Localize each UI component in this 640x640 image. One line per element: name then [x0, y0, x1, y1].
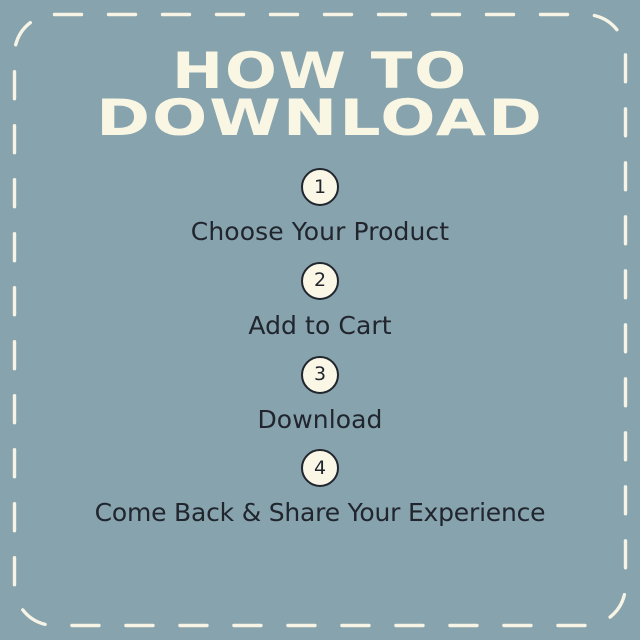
- steps-list: 1 Choose Your Product 2 Add to Cart 3 Do…: [0, 168, 640, 543]
- step-label: Choose Your Product: [0, 218, 640, 247]
- title-line-1: HOW TO: [0, 48, 640, 95]
- list-item: 3 Download: [0, 356, 640, 435]
- step-number: 4: [314, 459, 326, 478]
- step-number-badge: 1: [301, 168, 339, 206]
- list-item: 1 Choose Your Product: [0, 168, 640, 247]
- step-number: 3: [314, 365, 326, 384]
- list-item: 4 Come Back & Share Your Experience: [0, 449, 640, 528]
- step-number: 2: [314, 271, 326, 290]
- step-number-badge: 2: [301, 262, 339, 300]
- step-label: Come Back & Share Your Experience: [0, 499, 640, 528]
- page-title: HOW TO DOWNLOAD: [0, 48, 640, 142]
- title-line-2: DOWNLOAD: [0, 95, 640, 142]
- step-label: Add to Cart: [0, 312, 640, 341]
- step-number-badge: 4: [301, 449, 339, 487]
- step-number-badge: 3: [301, 356, 339, 394]
- step-number: 1: [314, 178, 326, 197]
- step-label: Download: [0, 406, 640, 435]
- list-item: 2 Add to Cart: [0, 262, 640, 341]
- how-to-download-poster: HOW TO DOWNLOAD 1 Choose Your Product 2 …: [0, 0, 640, 640]
